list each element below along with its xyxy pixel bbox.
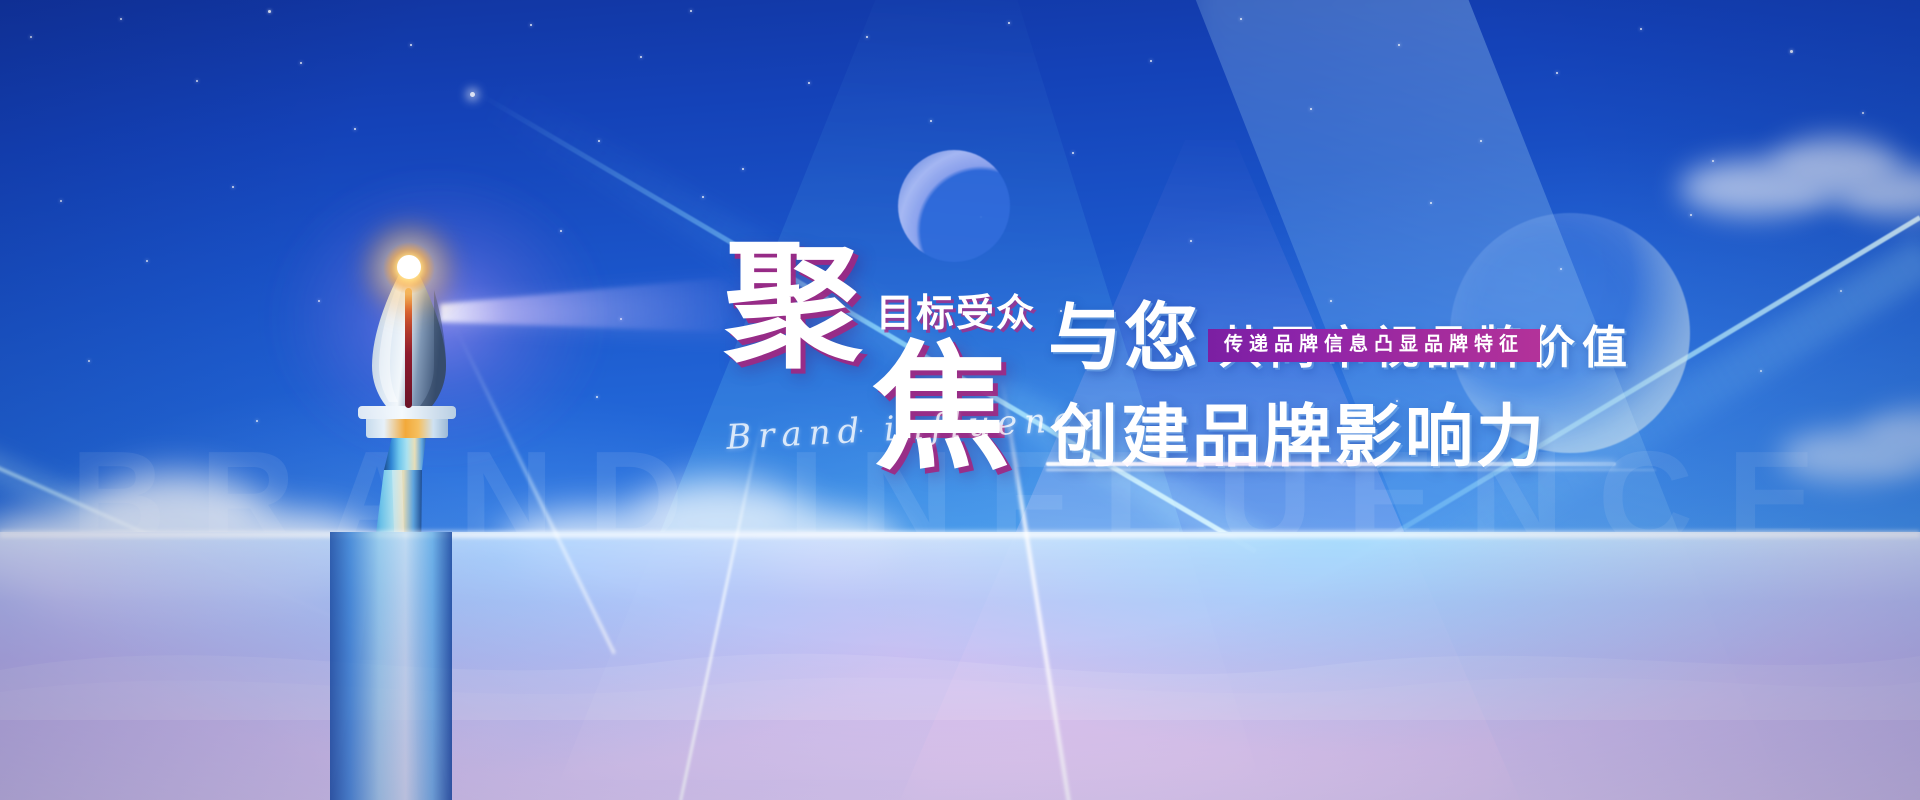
status-badge: 传递品牌信息凸显品牌特征	[1208, 329, 1540, 362]
tagline-target-audience: 目标受众	[876, 282, 1036, 337]
line2-lead-text: 与您	[1048, 278, 1200, 385]
headline-copy-block: 聚 焦 目标受众 Brand influence 与您 共同审视品牌价值 传递品…	[0, 0, 1920, 800]
headline-underline-faint	[1046, 469, 1656, 471]
headline-char-ju: 聚	[724, 238, 862, 376]
headline-underline	[1046, 462, 1616, 466]
brand-banner: BRAND INFLUENCE	[0, 0, 1920, 800]
